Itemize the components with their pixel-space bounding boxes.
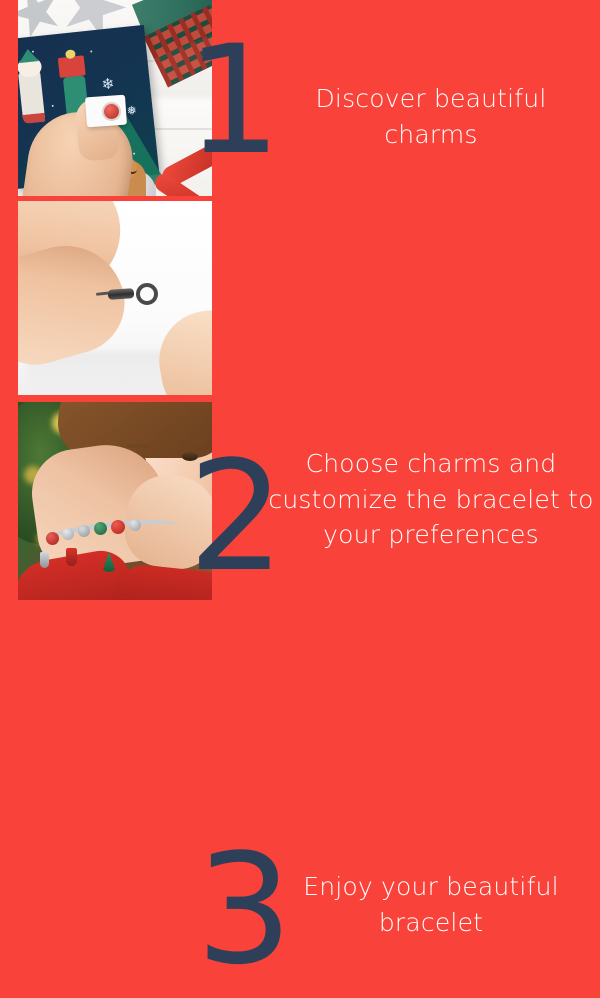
red-boot-charm — [66, 548, 77, 566]
silver-charm — [40, 552, 49, 568]
step-2-numeral: 2 — [188, 441, 283, 593]
step-3-photo — [18, 402, 212, 600]
red-charm-bead — [104, 104, 119, 119]
jump-ring — [136, 283, 158, 305]
step-2: 2 Choose charms and customize the bracel… — [0, 201, 600, 395]
step-2-photo — [18, 201, 212, 395]
step-1: ❄ ❅ ❄ ❅ ❄ — [0, 0, 600, 196]
advent-calendar-scene: ❄ ❅ ❄ ❅ ❄ — [18, 0, 212, 196]
clasp-in-fingers-scene — [18, 201, 212, 395]
girl-wearing-bracelet-scene — [18, 402, 212, 600]
step-3-caption: Enjoy your beautiful bracelet — [268, 869, 594, 940]
step-1-caption: Discover beautiful charms — [268, 81, 594, 152]
step-2-caption: Choose charms and customize the bracelet… — [268, 446, 594, 553]
lobster-clasp — [108, 288, 135, 300]
infographic-canvas: ❄ ❅ ❄ ❅ ❄ — [0, 0, 600, 600]
step-1-numeral: 1 — [186, 26, 279, 176]
step-3-numeral: 3 — [196, 834, 291, 986]
step-1-photo: ❄ ❅ ❄ ❅ ❄ — [18, 0, 212, 196]
